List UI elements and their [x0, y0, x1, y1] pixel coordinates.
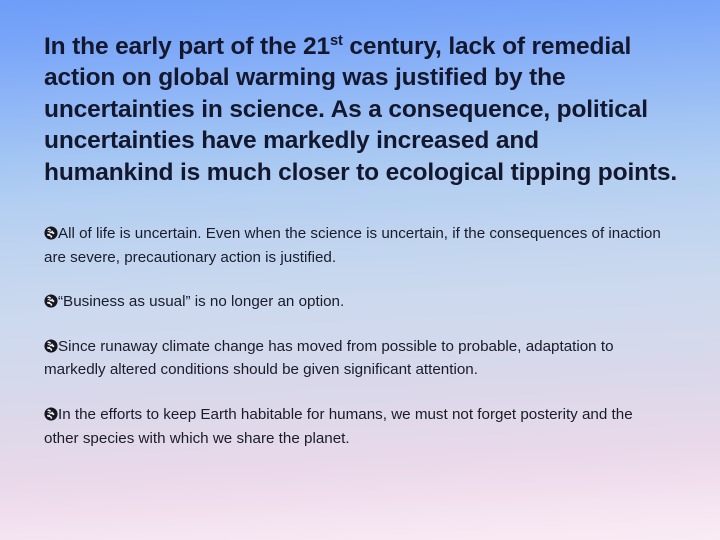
title-ordinal-superscript: st [330, 33, 343, 49]
globe-icon [44, 407, 58, 421]
title-line-1-prefix: In the early part of the 21 [44, 33, 330, 60]
title-line-5: humankind is much closer to ecological t… [44, 157, 684, 188]
list-item: Since runaway climate change has moved f… [44, 335, 670, 382]
list-item-text: Since runaway climate change has moved f… [44, 338, 614, 379]
globe-icon [44, 339, 58, 353]
list-item: “Business as usual” is no longer an opti… [44, 290, 670, 314]
presentation-slide: In the early part of the 21st century, l… [0, 0, 720, 540]
title-line-3: uncertainties in science. As a consequen… [44, 94, 684, 125]
title-line-4: uncertainties have markedly increased an… [44, 125, 684, 156]
list-item-text: “Business as usual” is no longer an opti… [58, 293, 344, 310]
globe-icon [44, 294, 58, 308]
title-line-2: action on global warming was justified b… [44, 62, 684, 93]
list-item-text: In the efforts to keep Earth habitable f… [44, 406, 633, 447]
slide-title: In the early part of the 21st century, l… [44, 31, 684, 188]
list-item-text: All of life is uncertain. Even when the … [44, 225, 661, 266]
globe-icon [44, 226, 58, 240]
title-line-1: In the early part of the 21st century, l… [44, 31, 684, 62]
list-item: In the efforts to keep Earth habitable f… [44, 403, 670, 450]
slide-body: All of life is uncertain. Even when the … [44, 222, 670, 450]
list-item: All of life is uncertain. Even when the … [44, 222, 670, 269]
title-line-1-suffix: century, lack of remedial [343, 33, 631, 60]
